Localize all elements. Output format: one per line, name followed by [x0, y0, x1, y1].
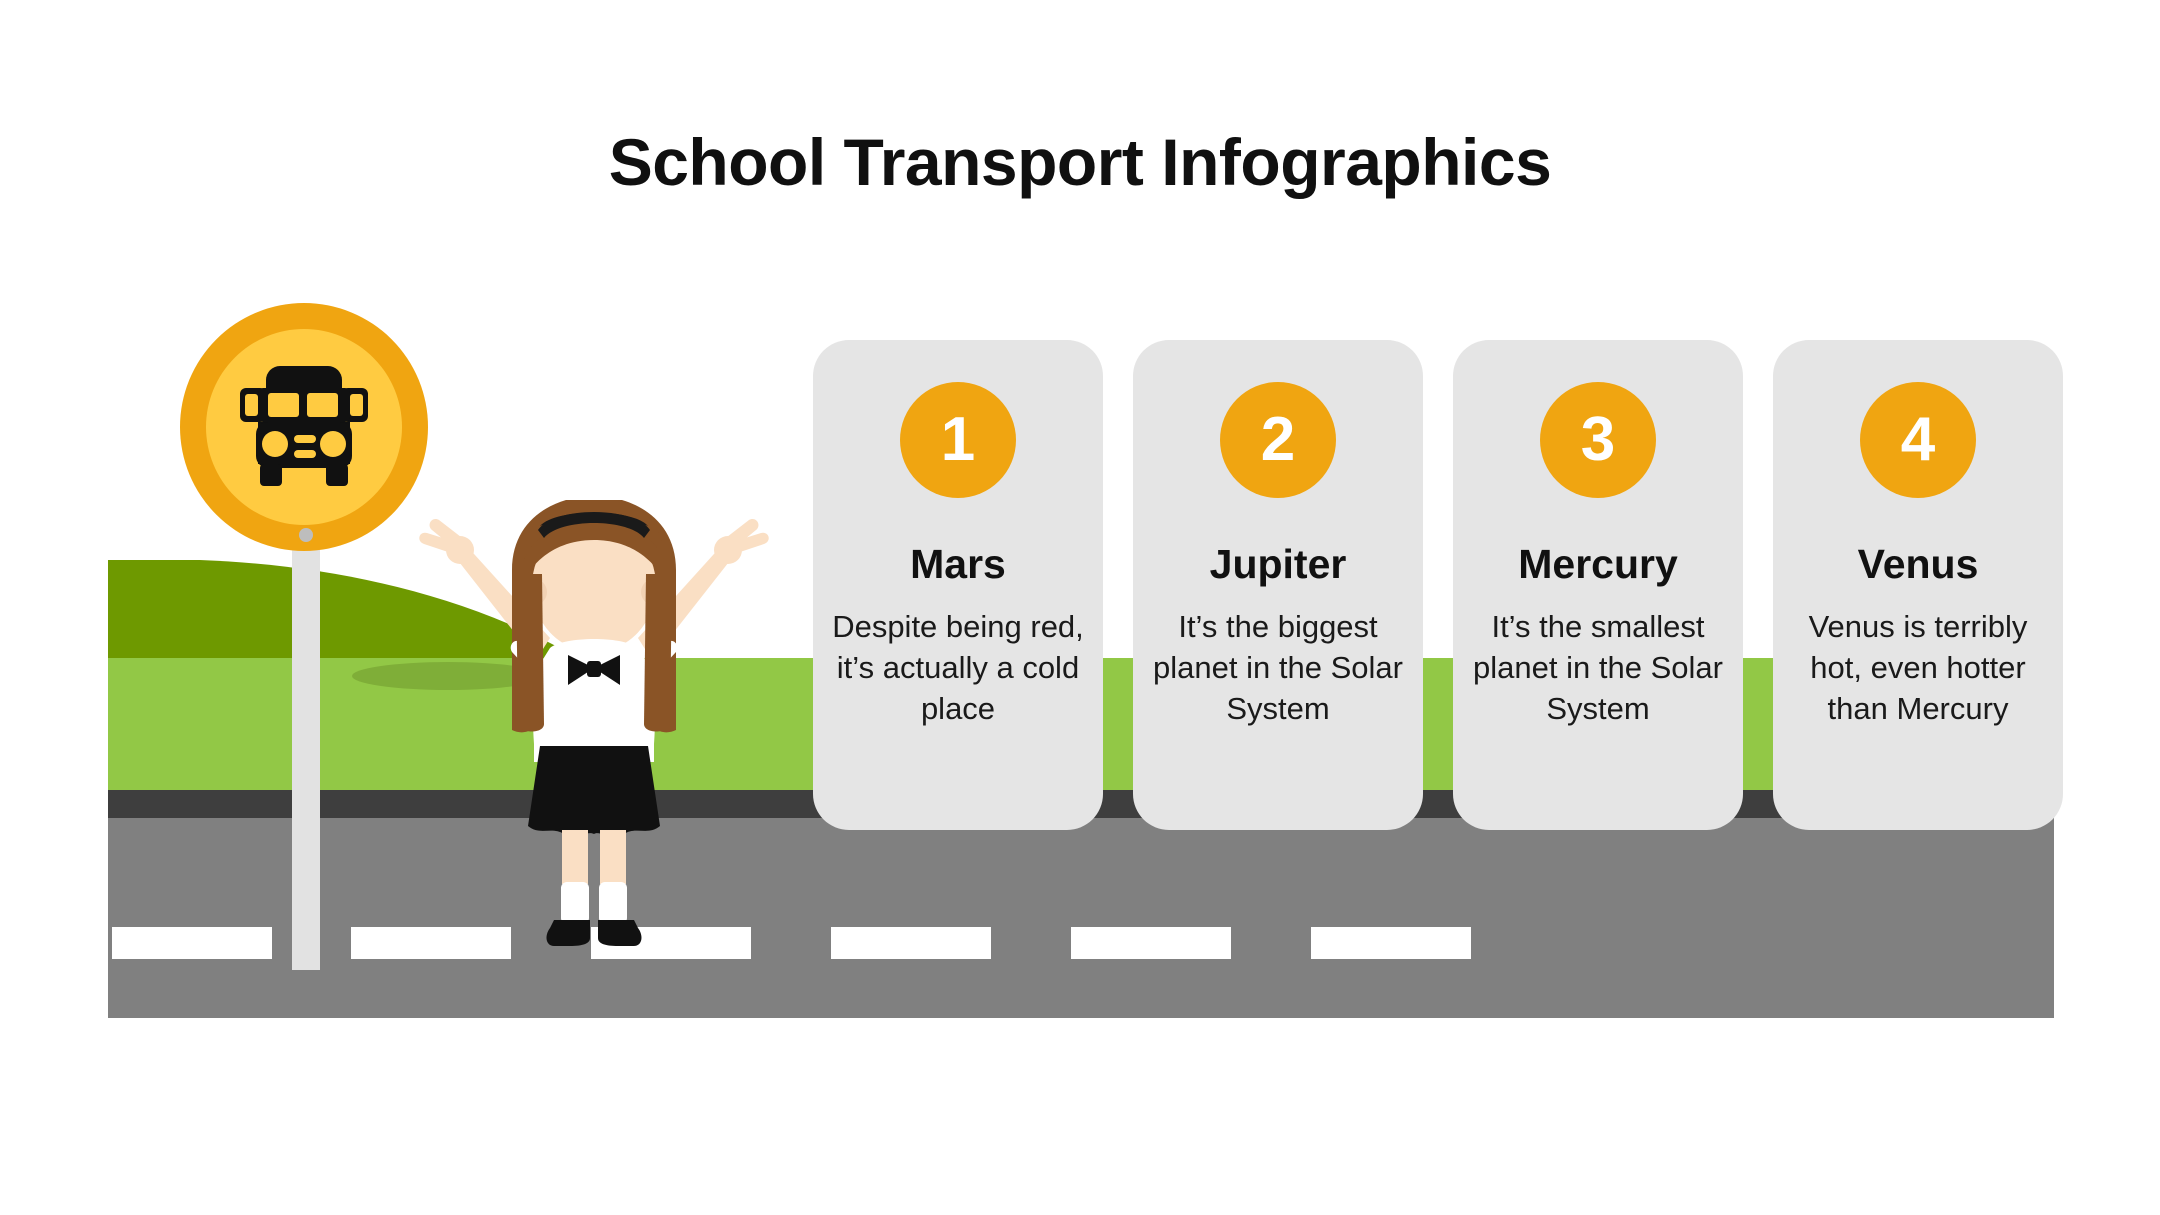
- sign-screw: [299, 528, 313, 542]
- card-body-text: It’s the smallest planet in the Solar Sy…: [1472, 607, 1724, 730]
- card-body-text: Despite being red, it’s actually a cold …: [832, 607, 1084, 730]
- sock: [561, 882, 589, 924]
- school-bus-icon: [240, 366, 368, 488]
- card-title: Venus: [1858, 544, 1979, 585]
- sign-post: [292, 520, 320, 970]
- lane-dash: [1311, 927, 1471, 959]
- card-title: Jupiter: [1210, 544, 1347, 585]
- info-card-jupiter[interactable]: 2 Jupiter It’s the biggest planet in the…: [1133, 340, 1423, 830]
- lane-dash: [1071, 927, 1231, 959]
- card-body-text: Venus is terribly hot, even hotter than …: [1792, 607, 2044, 730]
- card-body-text: It’s the biggest planet in the Solar Sys…: [1152, 607, 1404, 730]
- shoe: [598, 920, 641, 946]
- lane-dash: [112, 927, 272, 959]
- info-card-list: 1 Mars Despite being red, it’s actually …: [813, 340, 2103, 830]
- sign-inner-disc: [206, 329, 402, 525]
- asphalt-band: [108, 818, 2054, 1018]
- card-title: Mercury: [1518, 544, 1678, 585]
- skirt: [528, 746, 660, 837]
- card-number-badge: 1: [900, 382, 1016, 498]
- card-number-badge: 4: [1860, 382, 1976, 498]
- sock: [599, 882, 627, 924]
- bus-stop-sign: [180, 303, 428, 551]
- card-number-badge: 3: [1540, 382, 1656, 498]
- info-card-mars[interactable]: 1 Mars Despite being red, it’s actually …: [813, 340, 1103, 830]
- info-card-venus[interactable]: 4 Venus Venus is terribly hot, even hott…: [1773, 340, 2063, 830]
- shoe: [547, 920, 590, 946]
- slide-canvas: School Transport Infographics: [0, 0, 2160, 1215]
- card-title: Mars: [910, 544, 1006, 585]
- lane-dash: [831, 927, 991, 959]
- info-card-mercury[interactable]: 3 Mercury It’s the smallest planet in th…: [1453, 340, 1743, 830]
- page-title: School Transport Infographics: [0, 124, 2160, 200]
- schoolgirl-figure: [404, 500, 784, 950]
- card-number-badge: 2: [1220, 382, 1336, 498]
